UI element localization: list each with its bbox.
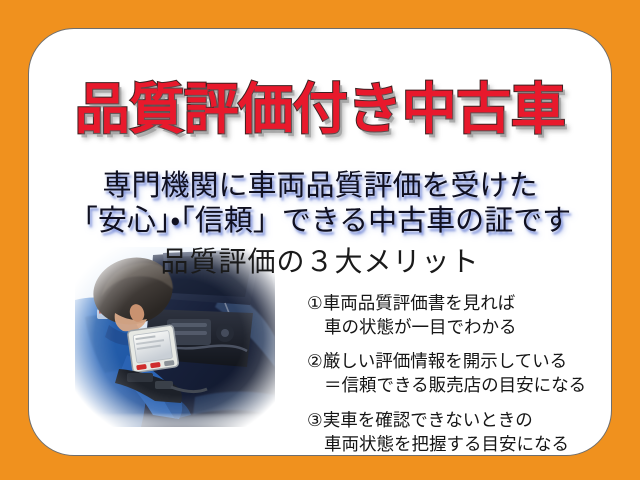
page-title: 品質評価付き中古車 <box>29 81 611 139</box>
merit-line-1: 車両品質評価書を見れば <box>323 293 516 313</box>
merits-list: ①車両品質評価書を見れば 車の状態が一目でわかる ②厳しい評価情報を開示している… <box>307 291 612 456</box>
subtitle-line-1: 専門機関に車両品質評価を受けた <box>102 170 537 202</box>
merit-marker: ③ <box>307 410 323 430</box>
white-rounded-panel: 品質評価付き中古車 専門機関に車両品質評価を受けた 「安心」・「信頼」できる中古… <box>28 28 612 456</box>
merit-line-1: 厳しい評価情報を開示している <box>323 351 567 371</box>
merit-line-1: 実車を確認できないときの <box>323 410 533 430</box>
merit-marker: ① <box>307 293 323 313</box>
list-item: ③実車を確認できないときの 車両状態を把握する目安になる <box>307 408 612 456</box>
merit-line-2: 車両状態を把握する目安になる <box>307 432 612 456</box>
merits-heading: 品質評価の３大メリット <box>29 247 611 278</box>
list-item: ①車両品質評価書を見れば 車の状態が一目でわかる <box>307 291 612 339</box>
merit-line-2: ＝信頼できる販売店の目安になる <box>307 373 612 397</box>
subtitle-line-2: 「安心」・「信頼」できる中古車の証です <box>29 204 611 239</box>
merit-line-2: 車の状態が一目でわかる <box>307 315 612 339</box>
subtitle: 専門機関に車両品質評価を受けた 「安心」・「信頼」できる中古車の証です <box>29 169 611 240</box>
merit-marker: ② <box>307 351 323 371</box>
used-car-quality-banner: 品質評価付き中古車 専門機関に車両品質評価を受けた 「安心」・「信頼」できる中古… <box>0 0 640 480</box>
list-item: ②厳しい評価情報を開示している ＝信頼できる販売店の目安になる <box>307 349 612 397</box>
